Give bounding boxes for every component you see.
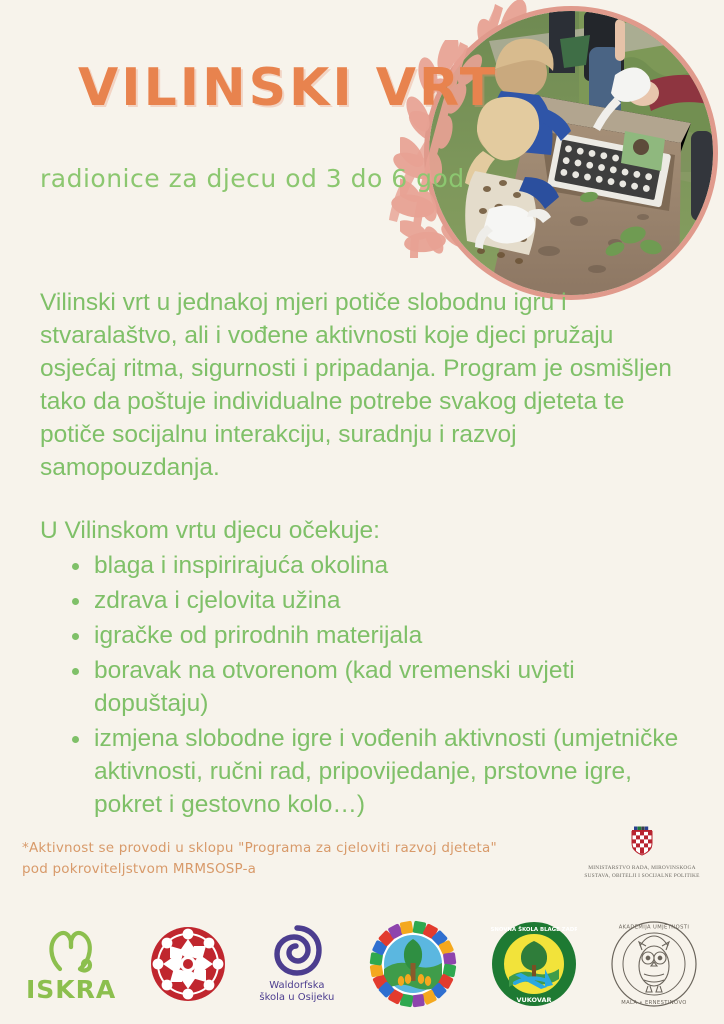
benefits-list: blaga i inspirirajuća okolina zdrava i c… (40, 549, 680, 821)
school-seal-icon: OSNOVNA ŠKOLA BLAGE ZADRE VUKOVAR (491, 921, 577, 1007)
list-item: zdrava i cjelovita užina (72, 584, 680, 617)
page-subtitle: radionice za djecu od 3 do 6 god (40, 164, 465, 193)
folk-rosette-icon (149, 925, 227, 1003)
sprout-icon (40, 925, 102, 977)
list-intro: U Vilinskom vrtu djecu očekuje: (40, 514, 680, 547)
partner-logos: ISKRA (0, 905, 724, 1023)
list-item: izmjena slobodne igre i vođenih aktivnos… (72, 722, 680, 821)
list-item: boravak na otvorenom (kad vremenski uvje… (72, 654, 680, 720)
tree-circle-icon: DJEČJI VRTIĆ VUKOVAR (367, 919, 459, 1009)
iskra-wordmark: ISKRA (26, 975, 116, 1004)
waldorf-caption: Waldorfskaškola u Osijeku (259, 980, 334, 1005)
logo-iskra: ISKRA (26, 925, 116, 1004)
seal-bottom-text: VUKOVAR (517, 996, 552, 1004)
logo-djecji-vrtic-vukovar: DJEČJI VRTIĆ VUKOVAR (367, 919, 459, 1009)
body-content: Vilinski vrt u jednakoj mjeri potiče slo… (40, 286, 680, 823)
logo-mala-akademija: AKADEMIJA UMJETNOSTI MALA • ERNESTINOVO (610, 920, 698, 1008)
footnote: *Aktivnost se provodi u sklopu "Programa… (22, 838, 522, 880)
ministry-line-2: SUSTAVA, OBITELJI I SOCIJALNE POLITIKE (572, 873, 712, 881)
logo-os-blage-zadre: OSNOVNA ŠKOLA BLAGE ZADRE VUKOVAR (491, 921, 577, 1007)
owl-seal-bottom-text: MALA • ERNESTINOVO (621, 1000, 687, 1006)
list-item: igračke od prirodnih materijala (72, 619, 680, 652)
logo-waldorf: Waldorfskaškola u Osijeku (259, 924, 334, 1005)
owl-seal-icon: AKADEMIJA UMJETNOSTI MALA • ERNESTINOVO (610, 920, 698, 1008)
ministry-logo: MINISTARSTVO RADA, MIROVINSKOGA SUSTAVA,… (572, 826, 712, 880)
hero-photo (424, 6, 718, 300)
croatian-coat-of-arms-icon (629, 826, 655, 856)
page-title: VILINSKI VRT (78, 58, 498, 118)
owl-seal-top-text: AKADEMIJA UMJETNOSTI (619, 925, 690, 931)
seal-top-text: OSNOVNA ŠKOLA BLAGE ZADRE (491, 926, 577, 933)
list-item: blaga i inspirirajuća okolina (72, 549, 680, 582)
spiral-icon (272, 924, 322, 976)
vukovar-wordmark: DJEČJI VRTIĆ VUKOVAR (367, 919, 459, 923)
poster: VILINSKI VRT radionice za djecu od 3 do … (0, 0, 724, 1024)
ministry-line-1: MINISTARSTVO RADA, MIROVINSKOGA (572, 865, 712, 873)
intro-paragraph: Vilinski vrt u jednakoj mjeri potiče slo… (40, 286, 680, 484)
logo-folk-ornament (149, 925, 227, 1003)
